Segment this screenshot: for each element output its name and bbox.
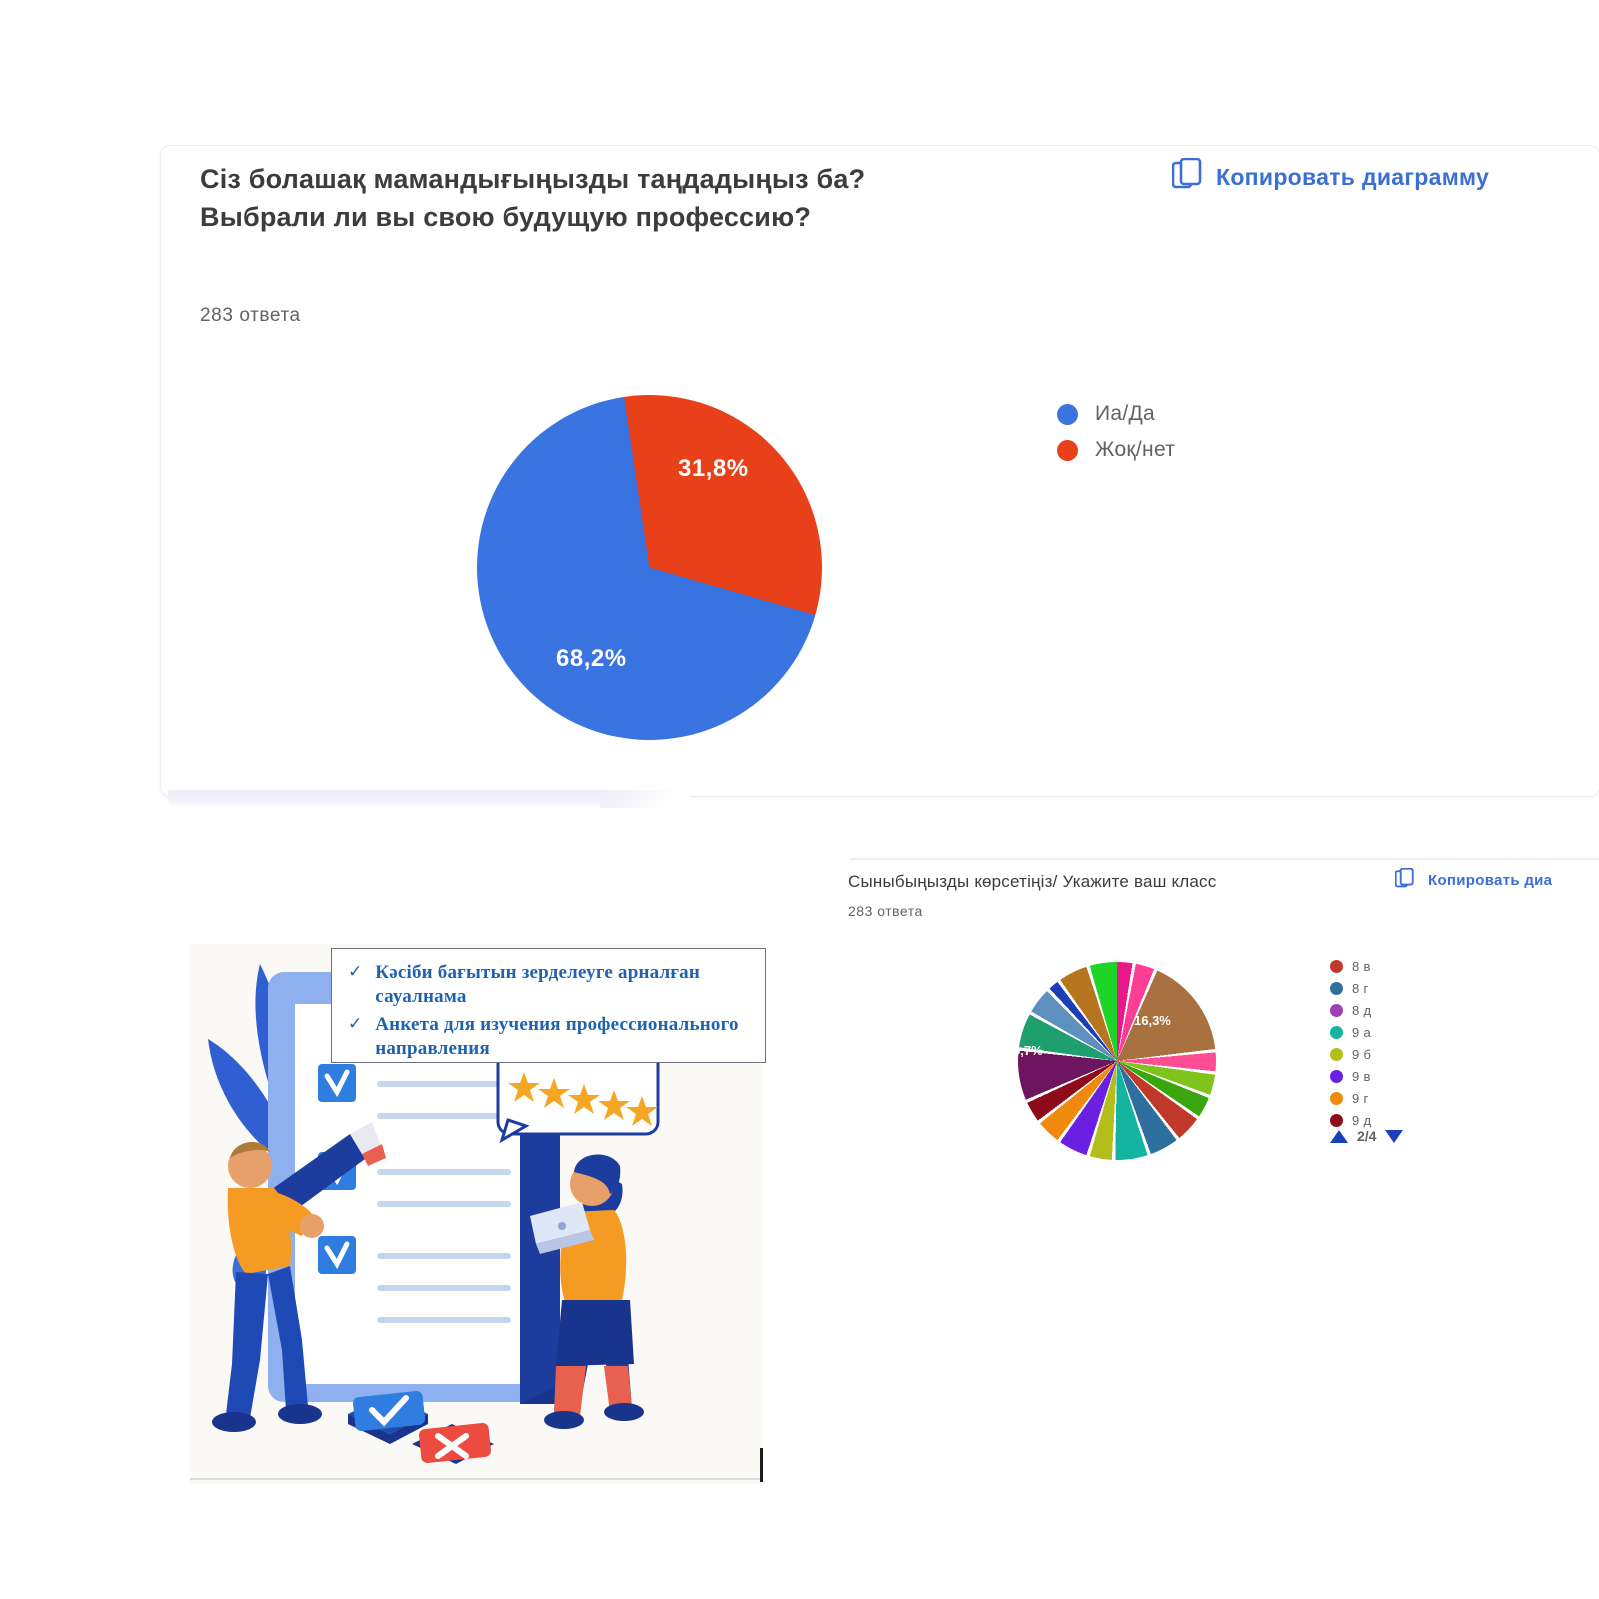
legend-color-dot [1330, 1092, 1343, 1105]
callout-item-ru: ✓ Анкета для изучения профессионального … [348, 1013, 755, 1062]
legend-item-yes[interactable]: Иа/Да [1057, 396, 1175, 432]
legend-pager[interactable]: 2/4 [1330, 1128, 1403, 1144]
copy-chart-label-2: Копировать диа [1428, 872, 1552, 889]
pager-up-icon[interactable] [1330, 1130, 1348, 1143]
legend-item-9g[interactable]: 9 г [1330, 1087, 1371, 1109]
legend-item-9v[interactable]: 9 в [1330, 1065, 1371, 1087]
card-shadow-corner [600, 790, 690, 808]
legend-color-dot [1330, 1026, 1343, 1039]
check-icon: ✓ [348, 1013, 362, 1062]
copy-chart-button[interactable]: Копировать диаграмму [1172, 158, 1489, 197]
pie-slice-label-57: 5,7% [1013, 1043, 1043, 1058]
legend-label: 9 в [1352, 1069, 1371, 1084]
legend-item-8d[interactable]: 8 д [1330, 999, 1371, 1021]
copy-chart-button-2[interactable]: Копировать диа [1395, 868, 1552, 893]
legend-color-dot [1330, 1114, 1343, 1127]
legend-class: 8 в 8 г 8 д 9 а 9 б 9 в 9 г 9 д [1330, 955, 1371, 1131]
legend-color-dot [1330, 982, 1343, 995]
legend-label: 8 д [1352, 1003, 1371, 1018]
copy-icon [1395, 868, 1414, 893]
legend-label: 9 а [1352, 1025, 1371, 1040]
legend-label: Иа/Да [1095, 402, 1155, 426]
legend-item-8g[interactable]: 8 г [1330, 977, 1371, 999]
check-icon: ✓ [348, 961, 362, 1010]
pie-slice-label-yes: 68,2% [556, 645, 627, 673]
legend-color-dot [1330, 960, 1343, 973]
legend-label: 9 б [1352, 1047, 1371, 1062]
callout-item-kk: ✓ Кәсіби бағытын зерделеуге арналған сау… [348, 961, 755, 1010]
callout-list: ✓ Кәсіби бағытын зерделеуге арналған сау… [348, 961, 755, 1061]
page-title: Сіз болашақ мамандығыңызды таңдадыңыз ба… [200, 160, 1020, 237]
legend-item-9a[interactable]: 9 а [1330, 1021, 1371, 1043]
illustration-bottom-border [190, 1478, 763, 1480]
question-title-ru: Выбрали ли вы свою будущую профессию? [200, 198, 1020, 236]
legend-profession: Иа/Да Жоқ/нет [1057, 396, 1175, 468]
pie-slice-label-16: 16,3% [1134, 1013, 1171, 1028]
pie-chart-class[interactable] [1018, 962, 1216, 1160]
pie-slice-label-no: 31,8% [678, 455, 749, 483]
pager-label: 2/4 [1357, 1128, 1376, 1144]
legend-item-8v[interactable]: 8 в [1330, 955, 1371, 977]
legend-label: 9 д [1352, 1113, 1371, 1128]
legend-label: 8 в [1352, 959, 1371, 974]
copy-icon [1172, 158, 1202, 197]
section-divider [850, 858, 1599, 860]
legend-color-dot [1330, 1048, 1343, 1061]
chart-card-profession [160, 145, 1599, 797]
response-count-class: 283 ответа [848, 903, 923, 919]
pager-down-icon[interactable] [1385, 1130, 1403, 1143]
legend-label: Жоқ/нет [1095, 438, 1175, 462]
legend-item-9b[interactable]: 9 б [1330, 1043, 1371, 1065]
legend-color-dot [1057, 404, 1078, 425]
legend-label: 9 г [1352, 1091, 1368, 1106]
callout-box: ✓ Кәсіби бағытын зерделеуге арналған сау… [331, 948, 766, 1063]
response-count: 283 ответа [200, 305, 301, 327]
legend-color-dot [1330, 1004, 1343, 1017]
callout-text: Анкета для изучения профессионального на… [375, 1013, 755, 1062]
question-title-kk: Сіз болашақ мамандығыңызды таңдадыңыз ба… [200, 160, 1020, 198]
callout-text: Кәсіби бағытын зерделеуге арналған сауал… [375, 961, 755, 1010]
legend-color-dot [1057, 440, 1078, 461]
text-cursor [760, 1448, 763, 1482]
pie-chart-profession[interactable] [477, 395, 822, 740]
copy-chart-label: Копировать диаграмму [1216, 164, 1489, 191]
legend-label: 8 г [1352, 981, 1368, 996]
question-title-class: Сыныбыңызды көрсетіңіз/ Укажите ваш клас… [848, 872, 1216, 892]
legend-color-dot [1330, 1070, 1343, 1083]
legend-item-no[interactable]: Жоқ/нет [1057, 432, 1175, 468]
